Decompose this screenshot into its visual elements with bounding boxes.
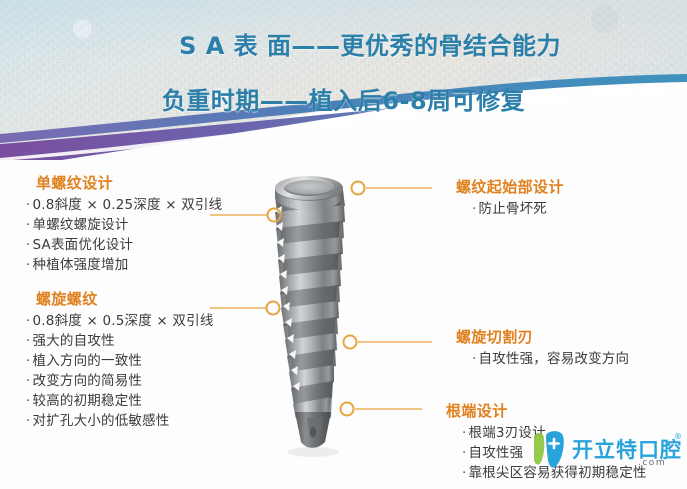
- registered-mark-icon: ®: [674, 432, 682, 441]
- list-item: ·较高的初期稳定性: [26, 392, 214, 412]
- callout-single-thread: 单螺纹设计 ·0.8斜度 × 0.25深度 × 双引线 ·单螺纹螺旋设计 ·SA…: [20, 172, 222, 276]
- bullet-icon: ·: [462, 465, 467, 481]
- bullet-icon: ·: [26, 217, 31, 233]
- tooth-logo-icon: [528, 428, 572, 472]
- list-item: ·0.8斜度 × 0.25深度 × 双引线: [26, 196, 222, 216]
- bullet-icon: ·: [462, 425, 467, 441]
- list-item: ·0.8斜度 × 0.5深度 × 双引线: [26, 312, 214, 332]
- marker-thread-start: [352, 182, 365, 195]
- callout-heading-thread-start: 螺纹起始部设计: [456, 176, 564, 197]
- bullet-icon: ·: [472, 201, 477, 217]
- list-item-label: 改变方向的简易性: [33, 373, 143, 389]
- bullet-icon: ·: [462, 445, 467, 461]
- list-item-label: 强大的自攻性: [33, 333, 115, 349]
- bullet-icon: ·: [26, 313, 31, 329]
- list-item: ·单螺纹螺旋设计: [26, 216, 222, 236]
- slide-canvas: S A 表 面——更优秀的骨结合能力 负重时期——植入后6-8周可修复: [0, 0, 687, 489]
- callout-list-single-thread: ·0.8斜度 × 0.25深度 × 双引线 ·单螺纹螺旋设计 ·SA表面优化设计…: [20, 196, 222, 276]
- bullet-icon: ·: [26, 197, 31, 213]
- marker-spiral-thread: [267, 302, 280, 315]
- marker-apex: [341, 403, 354, 416]
- bullet-icon: ·: [472, 351, 477, 367]
- list-item-label: 0.8斜度 × 0.5深度 × 双引线: [33, 313, 214, 329]
- bullet-icon: ·: [26, 393, 31, 409]
- bullet-icon: ·: [26, 257, 31, 273]
- bullet-icon: ·: [26, 237, 31, 253]
- marker-cutting-edge: [344, 336, 357, 349]
- callout-list-thread-start: ·防止骨坏死: [434, 200, 564, 220]
- watermark-domain: .com: [638, 458, 666, 468]
- list-item-label: 防止骨坏死: [479, 201, 548, 217]
- bullet-icon: ·: [26, 413, 31, 429]
- callout-list-spiral-thread: ·0.8斜度 × 0.5深度 × 双引线 ·强大的自攻性 ·植入方向的一致性 ·…: [20, 312, 214, 432]
- list-item: ·自攻性强，容易改变方向: [472, 350, 629, 370]
- callout-spiral-cutting-edge: 螺旋切割刃 ·自攻性强，容易改变方向: [434, 326, 629, 370]
- list-item: ·SA表面优化设计: [26, 236, 222, 256]
- callout-heading-apex-design: 根端设计: [446, 400, 647, 421]
- list-item-label: 自攻性强，容易改变方向: [479, 351, 630, 367]
- list-item-label: SA表面优化设计: [33, 237, 134, 253]
- bullet-icon: ·: [26, 353, 31, 369]
- callout-thread-start: 螺纹起始部设计 ·防止骨坏死: [434, 176, 564, 220]
- list-item: ·改变方向的简易性: [26, 372, 214, 392]
- callout-heading-single-thread: 单螺纹设计: [36, 172, 222, 193]
- bullet-icon: ·: [26, 373, 31, 389]
- list-item-label: 对扩孔大小的低敏感性: [33, 413, 170, 429]
- watermark-logo: 开立特口腔 ® .com: [528, 428, 684, 478]
- list-item: ·植入方向的一致性: [26, 352, 214, 372]
- callout-list-spiral-cutting-edge: ·自攻性强，容易改变方向: [434, 350, 629, 370]
- list-item-label: 自攻性强: [469, 445, 524, 461]
- list-item-label: 种植体强度增加: [33, 257, 129, 273]
- list-item-label: 植入方向的一致性: [33, 353, 143, 369]
- callout-heading-spiral-cutting-edge: 螺旋切割刃: [456, 326, 629, 347]
- list-item: ·种植体强度增加: [26, 256, 222, 276]
- list-item: ·对扩孔大小的低敏感性: [26, 412, 214, 432]
- list-item-label: 较高的初期稳定性: [33, 393, 143, 409]
- list-item: ·强大的自攻性: [26, 332, 214, 352]
- list-item: ·防止骨坏死: [472, 200, 564, 220]
- list-item-label: 单螺纹螺旋设计: [33, 217, 129, 233]
- callout-spiral-thread: 螺旋螺纹 ·0.8斜度 × 0.5深度 × 双引线 ·强大的自攻性 ·植入方向的…: [20, 288, 214, 432]
- callout-heading-spiral-thread: 螺旋螺纹: [36, 288, 214, 309]
- list-item-label: 0.8斜度 × 0.25深度 × 双引线: [33, 197, 223, 213]
- bullet-icon: ·: [26, 333, 31, 349]
- marker-single-thread: [268, 209, 281, 222]
